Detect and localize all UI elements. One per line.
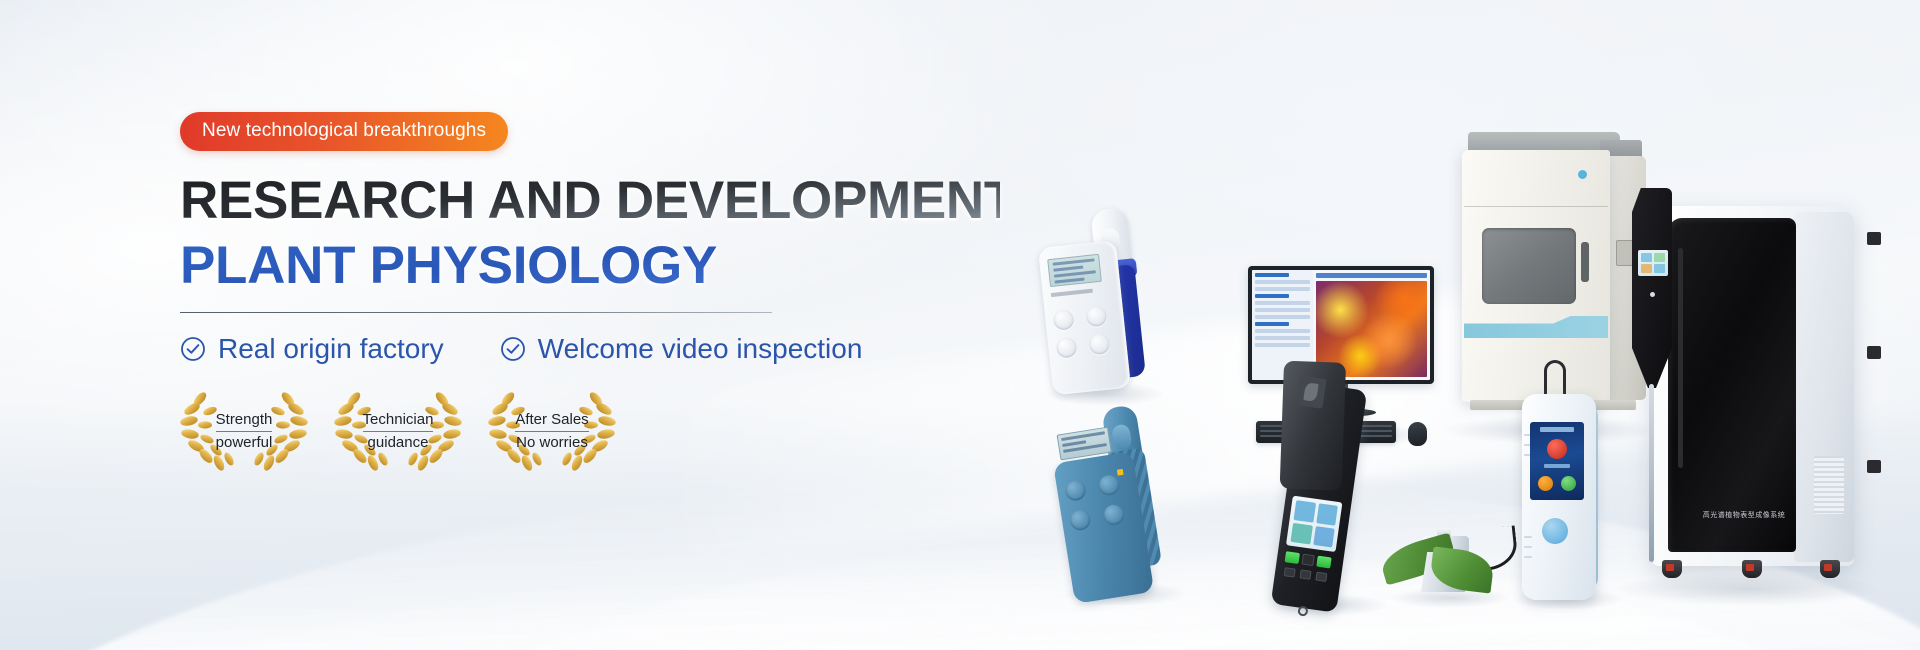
trust-badge-text: Strength powerful — [216, 411, 273, 453]
trust-badge-text: After Sales No worries — [515, 411, 588, 453]
product-plant-phenotyping-growth-chamber: 高光谱植物表型成像系统 — [1614, 188, 1876, 600]
keypad-button — [1315, 572, 1327, 582]
product-leaf-clip-sensor — [1385, 500, 1515, 610]
cabinet-door-handle — [1581, 242, 1589, 282]
trust-badge-line1: After Sales — [515, 411, 588, 429]
lcd-display — [1047, 254, 1102, 287]
product-showcase: 高光谱植物表型成像系统 — [1040, 60, 1920, 650]
cabinet-window — [1482, 228, 1576, 304]
chamber-hinge — [1867, 460, 1881, 473]
trust-badge-text: Technician guidance — [363, 411, 434, 453]
trust-badge-line2: No worries — [515, 431, 588, 452]
measure-button — [1316, 556, 1331, 569]
strap-loop — [1297, 605, 1308, 616]
cabinet-seam — [1464, 206, 1608, 207]
feature-label: Welcome video inspection — [538, 335, 863, 363]
trust-badge-line2: powerful — [216, 431, 273, 452]
chamber-model-label: 高光谱植物表型成像系统 — [1700, 510, 1788, 520]
control-panel-arm — [1632, 188, 1672, 388]
new-breakthroughs-badge[interactable]: New technological breakthroughs — [180, 112, 508, 151]
trust-badge-list: Strength powerful — [180, 389, 1000, 474]
check-circle-icon — [500, 336, 526, 362]
grip-rib — [1524, 536, 1532, 538]
keypad-button — [1284, 567, 1296, 577]
chamber-caster — [1742, 560, 1762, 578]
chamber-door-seal — [1678, 248, 1683, 468]
control-panel-touchscreen — [1638, 250, 1668, 276]
title-divider — [180, 312, 772, 313]
chamber-caster — [1662, 560, 1682, 578]
feature-list: Real origin factory Welcome video inspec… — [180, 335, 1000, 363]
trust-badge-line2: guidance — [363, 431, 434, 452]
product-handheld-photosynthesis-meter — [1031, 204, 1170, 401]
trust-badge-after-sales-no-worries: After Sales No worries — [488, 389, 616, 474]
mouse — [1408, 422, 1427, 446]
trust-badge-line1: Strength — [216, 411, 273, 429]
product-handheld-fluorometer — [1508, 360, 1618, 622]
trust-badge-line1: Technician — [363, 411, 434, 429]
check-circle-icon — [180, 336, 206, 362]
probe-rod — [1649, 384, 1654, 562]
app-icon-secondary — [1538, 476, 1553, 491]
page-title: RESEARCH AND DEVELOPMENT — [180, 173, 1000, 229]
chamber-hinge — [1867, 346, 1881, 359]
page-subtitle: PLANT PHYSIOLOGY — [180, 238, 1000, 294]
app-icon-primary — [1547, 439, 1567, 459]
home-button — [1542, 518, 1568, 544]
feature-label: Real origin factory — [218, 335, 444, 363]
control-panel-led — [1650, 292, 1655, 297]
touchscreen-display — [1530, 422, 1584, 500]
trust-badge-technician-guidance: Technician guidance — [334, 389, 462, 474]
feature-item-real-origin-factory[interactable]: Real origin factory — [180, 335, 444, 363]
start-button — [1285, 551, 1300, 564]
chamber-vent-grid — [1814, 456, 1844, 514]
grip-rib — [1524, 546, 1532, 548]
power-indicator — [1578, 170, 1587, 179]
feature-item-welcome-video-inspection[interactable]: Welcome video inspection — [500, 335, 863, 363]
menu-button — [1301, 554, 1314, 567]
chamber-glass-door — [1668, 218, 1796, 552]
status-led — [1117, 469, 1124, 476]
chamber-caster — [1820, 560, 1840, 578]
app-icon-tertiary — [1561, 476, 1576, 491]
product-handheld-chlorophyll-meter — [1044, 400, 1192, 606]
color-display — [1286, 496, 1342, 552]
keypad-button — [1299, 569, 1311, 579]
chamber-hinge — [1867, 232, 1881, 245]
trust-badge-strength-powerful: Strength powerful — [180, 389, 308, 474]
banner-content: New technological breakthroughs RESEARCH… — [180, 112, 1000, 474]
grip-rib — [1524, 556, 1532, 558]
